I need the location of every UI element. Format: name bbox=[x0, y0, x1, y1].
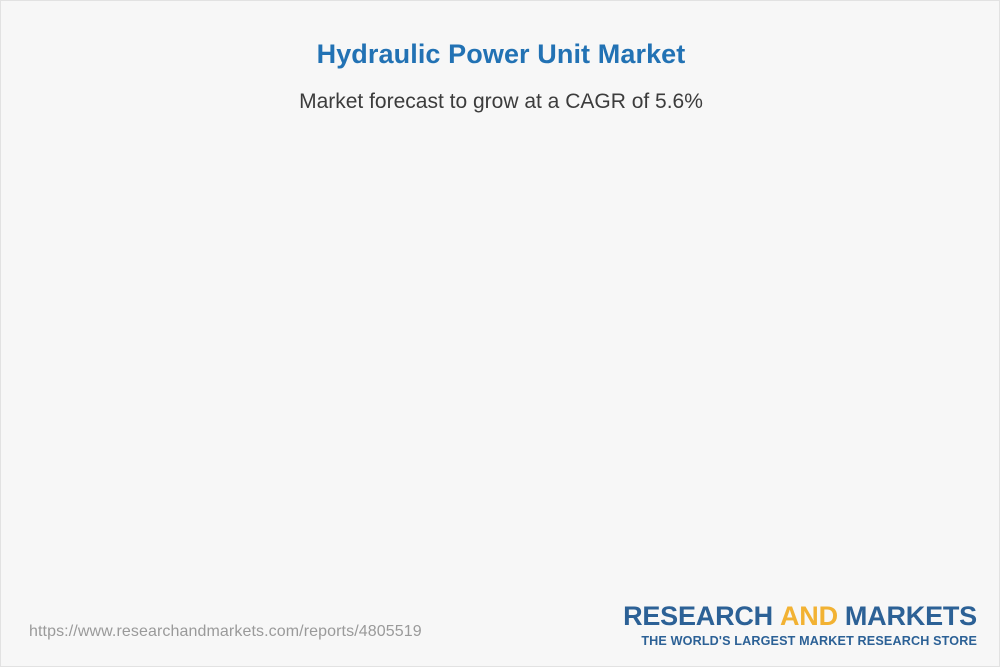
chart-card: Hydraulic Power Unit Market Market forec… bbox=[0, 0, 1000, 667]
source-url[interactable]: https://www.researchandmarkets.com/repor… bbox=[29, 623, 422, 641]
logo-word-and: AND bbox=[773, 601, 845, 631]
logo-wordmark: RESEARCHANDMARKETS bbox=[623, 603, 977, 630]
brand-logo: RESEARCHANDMARKETS THE WORLD'S LARGEST M… bbox=[623, 603, 977, 648]
logo-word-research: RESEARCH bbox=[623, 601, 773, 631]
logo-word-markets: MARKETS bbox=[845, 601, 977, 631]
logo-tagline: THE WORLD'S LARGEST MARKET RESEARCH STOR… bbox=[623, 634, 977, 648]
chart-plot-area: USD 8 Billion 2024 USD 11.1 Billion bbox=[1, 1, 1000, 601]
